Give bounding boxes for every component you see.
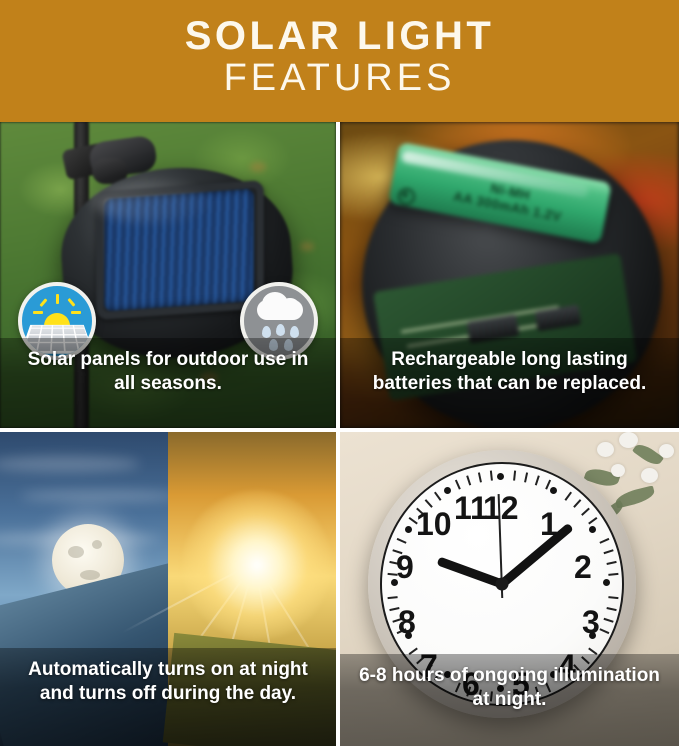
feature-panel-rechargeable-batteries: Ni-MH AA 300mAh 1.2V Rechargeable long l… [340,122,679,428]
panel-caption: Rechargeable long lasting batteries that… [340,338,679,428]
feature-panel-runtime-hours: 12 1 2 3 4 5 6 7 8 9 10 11 [340,432,679,746]
clock-center-hub [496,578,509,591]
clock-numeral-8: 8 [398,606,416,638]
page-title: SOLAR LIGHT [185,14,495,58]
infographic-page: SOLAR LIGHT FEATURES [0,0,679,746]
lamp-highlight [92,182,212,222]
clock-numeral-3: 3 [582,606,600,638]
clock-numeral-10: 10 [416,508,452,540]
panel-caption: 6-8 hours of ongoing illumination at nig… [340,654,679,746]
page-subtitle: FEATURES [224,56,456,100]
panel-caption: Solar panels for outdoor use in all seas… [0,338,336,428]
feature-panel-auto-dusk-to-dawn: Automatically turns on at night and turn… [0,432,336,746]
clock-numeral-9: 9 [396,551,414,583]
sun-glow [182,490,332,640]
panel-caption: Automatically turns on at night and turn… [0,648,336,746]
feature-grid: Solar panels for outdoor use in all seas… [0,122,679,746]
clock-numeral-11: 11 [454,492,488,524]
feature-panel-solar-panels: Solar panels for outdoor use in all seas… [0,122,336,428]
clock-numeral-2: 2 [574,551,592,583]
page-header: SOLAR LIGHT FEATURES [0,0,679,122]
clock-numeral-12: 12 [483,492,519,524]
